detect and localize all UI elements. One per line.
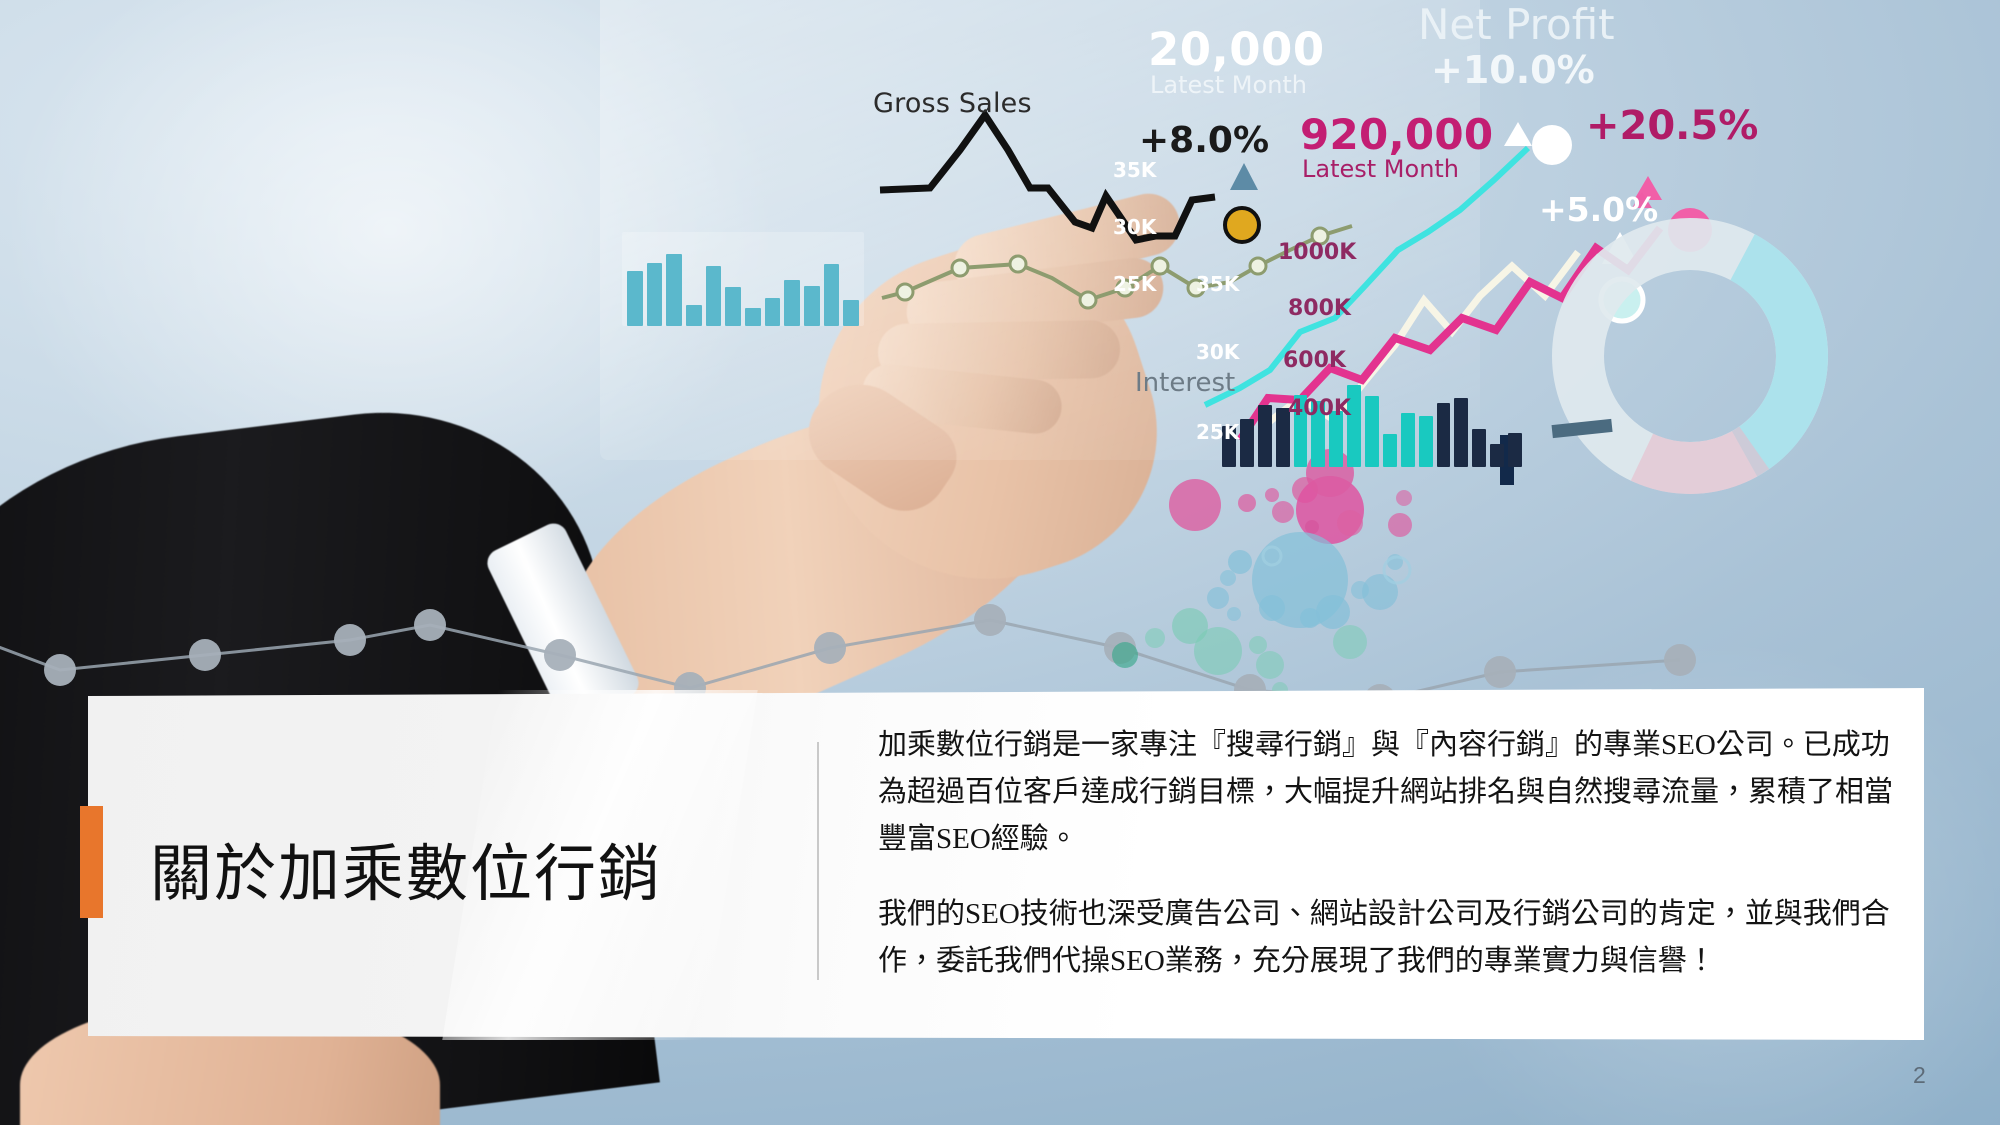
value-920000-sub: Latest Month	[1302, 155, 1459, 183]
navy-teal-bar-chart	[1222, 385, 1522, 467]
bar-3	[666, 254, 682, 326]
net-profit-endpoint	[1532, 125, 1572, 165]
pct-5-label: +5.0%	[1539, 190, 1658, 229]
paragraph-1: 加乘數位行銷是一家專注『搜尋行銷』與『內容行銷』的專業SEO公司。已成功為超過百…	[878, 722, 1908, 863]
bar-12	[1419, 416, 1433, 467]
net-profit-label: Net Profit	[1418, 0, 1615, 49]
bar-5	[706, 266, 722, 326]
axis-a-30k: 30K	[1113, 215, 1156, 239]
bar-2	[647, 263, 663, 326]
pct-205-label: +20.5%	[1586, 103, 1758, 149]
axis-b-30k: 30K	[1196, 340, 1239, 364]
bar-11	[824, 264, 840, 326]
bar-17	[1508, 433, 1522, 467]
bar-10	[1383, 434, 1397, 467]
bar-16	[1490, 444, 1504, 467]
axis-400k: 400K	[1288, 396, 1351, 421]
net-profit-up-arrow	[1504, 122, 1532, 146]
bar-10	[804, 286, 820, 326]
pct-10-label: +10.0%	[1431, 48, 1595, 92]
axis-1000k: 1000K	[1278, 240, 1356, 265]
axis-800k: 800K	[1288, 296, 1351, 321]
value-920000: 920,000	[1300, 110, 1493, 159]
interest-line-markers	[897, 228, 1328, 308]
bar-2	[1240, 419, 1254, 467]
gross-sales-label: Gross Sales	[873, 88, 1032, 119]
axis-b-25k: 25K	[1196, 420, 1239, 444]
bar-12	[843, 300, 859, 326]
bar-9	[784, 280, 800, 326]
bar-4	[686, 305, 702, 326]
axis-a-35k: 35K	[1113, 158, 1156, 182]
page-title: 關於加乘數位行銷	[150, 840, 790, 911]
bar-9	[1365, 396, 1379, 467]
slide: Gross Sales 20,000 Latest Month +8.0% 92…	[0, 0, 2000, 1125]
bar-6	[725, 287, 741, 326]
bar-13	[1437, 403, 1451, 467]
pct-8-label: +8.0%	[1139, 120, 1269, 161]
teal-up-arrow	[1230, 163, 1258, 190]
axis-a-25k: 25K	[1113, 272, 1156, 296]
page-number: 2	[1913, 1062, 1926, 1089]
axis-b-35k: 35K	[1196, 272, 1239, 296]
bar-7	[745, 308, 761, 326]
interest-label: Interest	[1135, 368, 1235, 398]
body-text: 加乘數位行銷是一家專注『搜尋行銷』與『內容行銷』的專業SEO公司。已成功為超過百…	[878, 722, 1908, 985]
vertical-divider	[817, 742, 819, 980]
value-20000: 20,000	[1148, 23, 1325, 76]
gold-marker	[1225, 208, 1259, 242]
donut-chart	[1534, 200, 1846, 512]
paragraph-2: 我們的SEO技術也深受廣告公司、網站設計公司及行銷公司的肯定，並與我們合作，委託…	[878, 891, 1908, 985]
bar-11	[1401, 413, 1415, 467]
bar-14	[1454, 398, 1468, 467]
bar-1	[627, 271, 643, 326]
axis-600k: 600K	[1283, 348, 1346, 373]
teal-bar-chart	[622, 232, 864, 326]
value-20000-sub: Latest Month	[1150, 71, 1307, 99]
accent-bar	[80, 806, 103, 918]
bar-15	[1472, 429, 1486, 467]
bar-3	[1258, 405, 1272, 467]
bar-8	[765, 298, 781, 326]
